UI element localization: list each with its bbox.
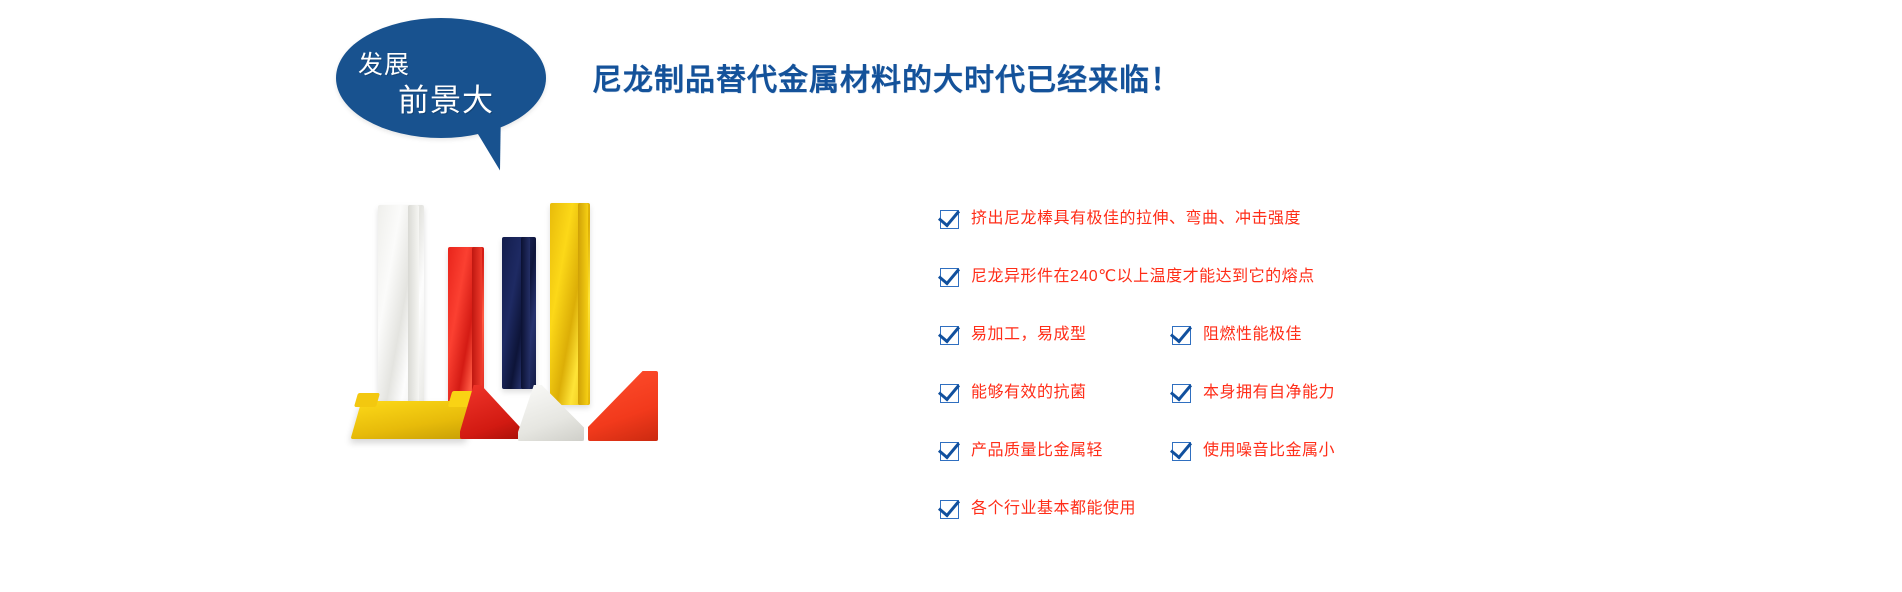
feature-item: 能够有效的抗菌 [940,384,1172,403]
feature-row: 挤出尼龙棒具有极佳的拉伸、弯曲、冲击强度 [940,190,1420,248]
feature-row: 各个行业基本都能使用 [940,480,1420,538]
feature-item: 挤出尼龙棒具有极佳的拉伸、弯曲、冲击强度 [940,210,1420,229]
yellow-channel-lip-left [354,393,380,407]
checkbox-checked-icon [940,326,959,345]
feature-item: 阻燃性能极佳 [1172,326,1412,345]
checkbox-checked-icon [1172,326,1191,345]
product-photo [350,195,710,465]
page-title: 尼龙制品替代金属材料的大时代已经来临！ [592,55,1181,99]
checkbox-checked-icon [1172,384,1191,403]
yellow-u-channel-rib [578,203,588,405]
feature-label: 阻燃性能极佳 [1203,327,1302,343]
feature-row: 尼龙异形件在240℃以上温度才能达到它的熔点 [940,248,1420,306]
speech-bubble-tail [467,112,508,174]
feature-label: 产品质量比金属轻 [971,443,1103,459]
feature-label: 各个行业基本都能使用 [971,501,1136,517]
feature-label: 本身拥有自净能力 [1203,385,1335,401]
feature-row: 易加工，易成型 阻燃性能极佳 [940,306,1420,364]
feature-item: 尼龙异形件在240℃以上温度才能达到它的熔点 [940,268,1420,287]
feature-row: 产品质量比金属轻 使用噪音比金属小 [940,422,1420,480]
feature-item: 使用噪音比金属小 [1172,442,1412,461]
navy-u-channel-rib [521,237,530,389]
checkbox-checked-icon [940,442,959,461]
white-u-channel-rib [408,205,419,415]
checkbox-checked-icon [1172,442,1191,461]
feature-label: 挤出尼龙棒具有极佳的拉伸、弯曲、冲击强度 [971,211,1301,227]
feature-label: 使用噪音比金属小 [1203,443,1335,459]
speech-bubble: 发展 前景大 [336,18,556,168]
navy-u-channel [502,237,536,389]
speech-bubble-line-2: 前景大 [398,75,494,120]
feature-label: 能够有效的抗菌 [971,385,1087,401]
feature-label: 易加工，易成型 [971,327,1087,343]
feature-item: 各个行业基本都能使用 [940,500,1420,519]
feature-item: 产品质量比金属轻 [940,442,1172,461]
checkbox-checked-icon [940,500,959,519]
feature-item: 易加工，易成型 [940,326,1172,345]
feature-row: 能够有效的抗菌 本身拥有自净能力 [940,364,1420,422]
checkbox-checked-icon [940,384,959,403]
feature-item: 本身拥有自净能力 [1172,384,1412,403]
promo-banner: 发展 前景大 尼龙制品替代金属材料的大时代已经来临！ 挤出尼龙棒具有极佳的拉伸、… [0,0,1902,592]
checkbox-checked-icon [940,210,959,229]
orange-l-angle-lying [588,371,658,441]
checkbox-checked-icon [940,268,959,287]
feature-list: 挤出尼龙棒具有极佳的拉伸、弯曲、冲击强度 尼龙异形件在240℃以上温度才能达到它… [940,190,1420,538]
feature-label: 尼龙异形件在240℃以上温度才能达到它的熔点 [971,269,1315,285]
